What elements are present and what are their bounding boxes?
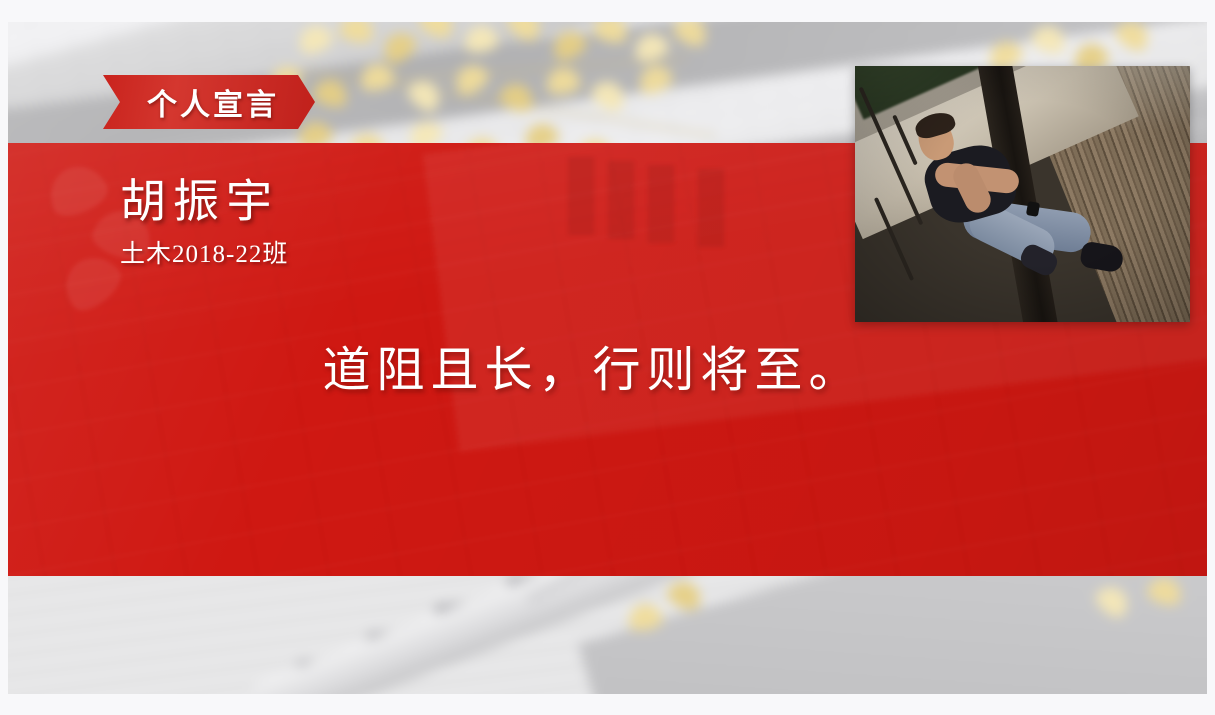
portrait-photo (855, 66, 1190, 322)
personal-motto: 道阻且长，行则将至。 (8, 330, 1207, 400)
section-ribbon-banner: 个人宣言 (103, 75, 315, 129)
profile-identity: 胡振宇 土木2018-22班 (120, 178, 288, 270)
section-title: 个人宣言 (139, 80, 279, 124)
portrait-layer (855, 66, 1190, 322)
person-name: 胡振宇 (120, 178, 288, 226)
portrait-vignette (855, 66, 1190, 322)
person-class: 土木2018-22班 (120, 234, 288, 270)
slide-canvas: 胡振宇 土木2018-22班 道阻且长，行则将至。 个人宣言 (0, 0, 1215, 715)
